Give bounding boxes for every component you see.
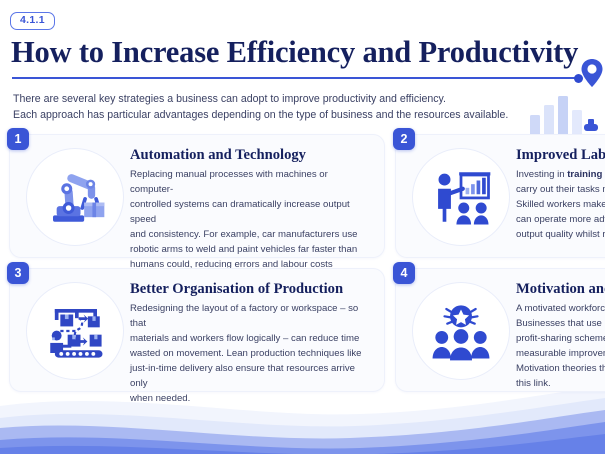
card-text-line: carry out their tasks more effectively. [516,183,605,198]
card-title-1: Automation and Technology [130,147,372,163]
card-text-line: Replacing manual processes with machines… [130,168,372,198]
card-text-line: when needed. [130,392,372,407]
emphasis-term: training [567,169,602,180]
card-text-line: just-in-time delivery also ensure that r… [130,362,372,392]
card-text-line: this link. [516,377,605,392]
section-number-badge: 4.1.1 [10,12,55,30]
card-text-2: Investing in training helps employees ca… [516,168,605,243]
training-presentation-icon [412,148,510,246]
infographic-page: 4.1.1 How to Increase Efficiency and Pro… [0,0,605,454]
strategy-card-grid: 1 Automation and Tech [0,134,605,392]
title-underline-line [12,77,580,79]
card-title-4: Motivation and Incentives [516,281,605,297]
card-text-line: can operate more advanced equipment, [516,213,605,228]
card-text-line: materials and workers flow logically – c… [130,332,372,347]
robotic-arm-icon [26,148,124,246]
card-text-line: A motivated workforce works harder. [516,302,605,317]
strategy-card-1: 1 Automation and Tech [9,134,385,258]
card-text-line: Skilled workers make fewer mistakes and [516,198,605,213]
card-number-badge-1: 1 [7,128,29,150]
card-title-2: Improved Labour Productivity [516,147,605,163]
strategy-card-3: 3 [9,268,385,392]
card-body-1: Automation and Technology Replacing manu… [130,143,372,288]
strategy-card-2: 2 Improved [395,134,605,258]
card-text-line: robotic arms to weld and paint vehicles … [130,243,372,258]
card-text-line: profit-sharing schemes often see [516,332,605,347]
card-text-4: A motivated workforce works harder. Busi… [516,302,605,392]
subtitle-line-1: There are several key strategies a busin… [13,91,543,107]
card-body-4: Motivation and Incentives A motivated wo… [516,277,605,392]
card-text-line: and consistency. For example, car manufa… [130,228,372,243]
title-underline-dot [574,74,583,83]
card-number-badge-3: 3 [7,262,29,284]
card-body-2: Improved Labour Productivity Investing i… [516,143,605,243]
factory-conveyor-icon [26,282,124,380]
card-text-line: Investing in training helps employees [516,168,605,183]
card-text-line: output quality whilst reducing waste. [516,228,605,243]
card-text-line: controlled systems can dramatically incr… [130,198,372,228]
motivated-team-star-icon [412,282,510,380]
strategy-card-4: 4 Motivation and [395,268,605,392]
card-text-line: Businesses that use performance bonuses, [516,317,605,332]
card-text-line: Redesigning the layout of a factory or w… [130,302,372,332]
page-subtitle: There are several key strategies a busin… [13,91,543,123]
page-header: 4.1.1 How to Increase Efficiency and Pro… [0,0,605,123]
card-text-line: wasted on movement. Lean production tech… [130,347,372,362]
subtitle-line-2: Each approach has particular advantages … [13,107,543,123]
card-text-line: Motivation theories that explain [516,362,605,377]
card-number-badge-4: 4 [393,262,415,284]
title-underline [12,74,591,82]
card-text-line: measurable improvements in output. [516,347,605,362]
card-body-3: Better Organisation of Production Redesi… [130,277,372,407]
page-title: How to Increase Efficiency and Productiv… [11,37,591,69]
card-title-3: Better Organisation of Production [130,281,372,297]
card-number-badge-2: 2 [393,128,415,150]
card-text-3: Redesigning the layout of a factory or w… [130,302,372,407]
